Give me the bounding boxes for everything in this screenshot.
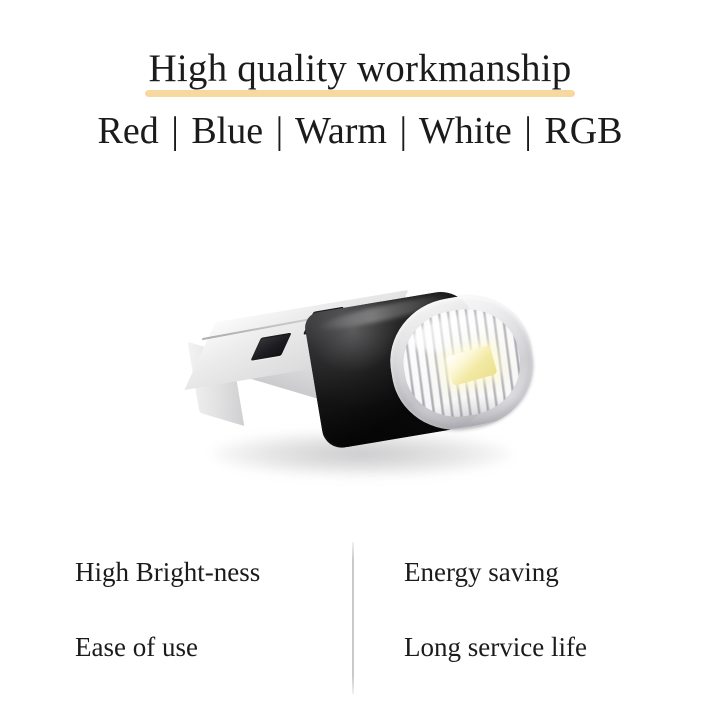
color-option-separator-3: | (396, 110, 410, 152)
feature-item-energy-saving: Energy saving (404, 556, 559, 588)
color-option-separator-2: | (273, 110, 287, 152)
color-option-separator-1: | (168, 110, 182, 152)
color-option-warm: Warm (295, 110, 387, 152)
color-options-list: Red | Blue | Warm | White | RGB (0, 108, 720, 154)
feature-item-high-brightness: High Bright-ness (75, 556, 260, 588)
product-image (150, 255, 580, 530)
product-infographic: High quality workmanship Red | Blue | Wa… (0, 0, 720, 720)
color-option-red: Red (98, 110, 159, 152)
header-block: High quality workmanship Red | Blue | Wa… (0, 44, 720, 154)
color-option-separator-4: | (521, 110, 535, 152)
page-title: High quality workmanship (149, 44, 572, 94)
feature-item-ease-of-use: Ease of use (75, 631, 198, 663)
color-option-rgb: RGB (544, 110, 622, 152)
feature-grid-divider (352, 542, 354, 694)
color-option-blue: Blue (191, 110, 263, 152)
color-option-white: White (419, 110, 512, 152)
feature-grid: High Bright-ness Energy saving Ease of u… (0, 538, 720, 698)
feature-item-long-service-life: Long service life (404, 631, 587, 663)
headline-underline (145, 90, 576, 97)
headline-wrap: High quality workmanship (143, 44, 578, 94)
